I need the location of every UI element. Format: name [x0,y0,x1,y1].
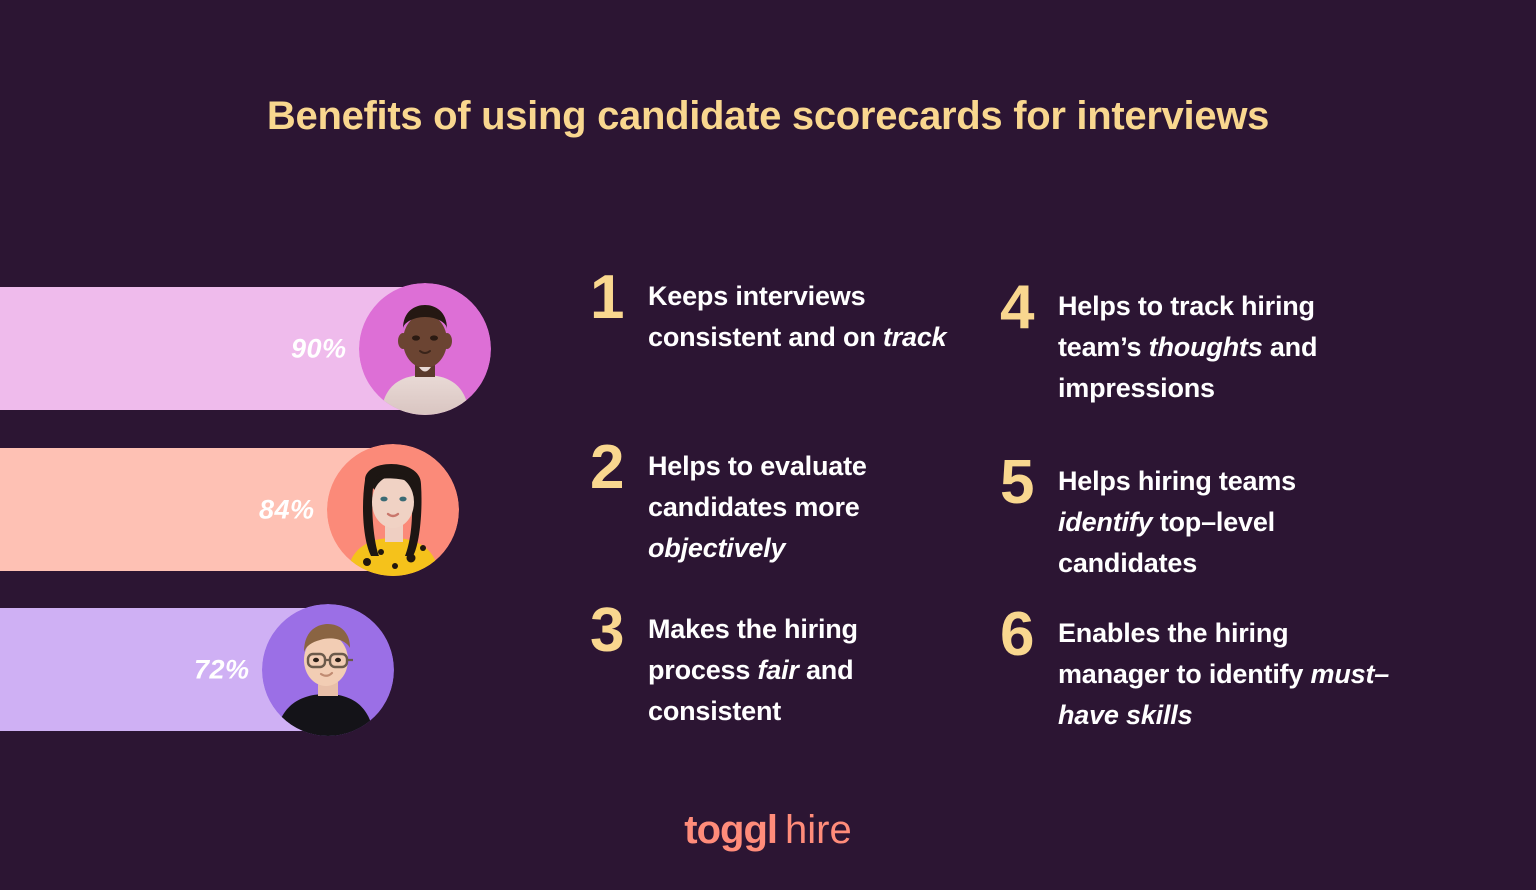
bar-percent-label-1: 90% [291,333,347,364]
benefit-number-5: 5 [1000,455,1044,511]
benefit-item-3: 3 Makes the hiring process fair and cons… [590,603,950,732]
stat-bars-group: 90% [0,287,540,737]
benefit-number-3: 3 [590,603,634,659]
benefit-item-1: 1 Keeps interviews consistent and on tra… [590,270,950,358]
bar-percent-label-3: 72% [194,654,250,685]
avatar-portrait-2 [327,444,459,576]
benefit-number-4: 4 [1000,280,1044,336]
avatar-man-glasses-black-shirt [262,604,394,736]
logo-wordmark-hire: hire [785,808,852,852]
toggl-hire-logo[interactable]: togglhire [0,808,1536,853]
avatar-man-light-sweater [359,283,491,415]
page-title: Benefits of using candidate scorecards f… [0,94,1536,138]
benefits-list: 1 Keeps interviews consistent and on tra… [590,270,1490,770]
benefit-text-5: Helps hiring teams identify top–level ca… [1058,455,1390,584]
avatar-portrait-1 [359,283,491,415]
benefit-number-1: 1 [590,270,634,326]
benefit-item-5: 5 Helps hiring teams identify top–level … [1000,455,1390,584]
bar-percent-label-2: 84% [259,494,315,525]
infographic-canvas: Benefits of using candidate scorecards f… [0,0,1536,890]
benefit-text-4: Helps to track hiring team’s thoughts an… [1058,280,1390,409]
benefit-number-2: 2 [590,440,634,496]
benefit-text-3: Makes the hiring process fair and consis… [648,603,950,732]
avatar-woman-yellow-top [327,444,459,576]
benefit-text-1: Keeps interviews consistent and on track [648,270,950,358]
benefit-item-2: 2 Helps to evaluate candidates more obje… [590,440,950,569]
benefit-text-6: Enables the hiring manager to identify m… [1058,607,1390,736]
benefit-text-2: Helps to evaluate candidates more object… [648,440,950,569]
benefit-item-4: 4 Helps to track hiring team’s thoughts … [1000,280,1390,409]
benefit-item-6: 6 Enables the hiring manager to identify… [1000,607,1390,736]
logo-wordmark-toggl: toggl [684,808,777,852]
avatar-portrait-3 [262,604,394,736]
benefit-number-6: 6 [1000,607,1044,663]
